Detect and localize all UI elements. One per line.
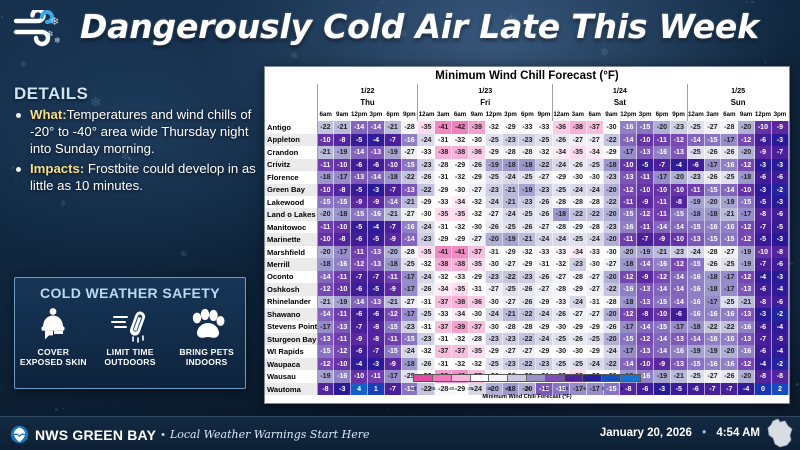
- table-cell-value: -34: [586, 146, 603, 158]
- table-cell-value: -21: [401, 196, 418, 208]
- table-cell-value: -19: [704, 345, 721, 357]
- table-cell-value: -30: [485, 258, 502, 270]
- table-cell-value: -21: [334, 121, 351, 133]
- table-cell-value: -38: [452, 258, 469, 270]
- table-cell-value: -18: [738, 171, 755, 183]
- snow-dot: [387, 408, 389, 410]
- cold-weather-safety-box: COLD WEATHER SAFETY COVEREXPOSED SKIN: [14, 277, 246, 389]
- table-cell-value: -12: [351, 258, 368, 270]
- table-cell-value: -32: [485, 121, 502, 133]
- table-cell-value: -26: [519, 283, 536, 295]
- table-row: Antigo-22-21-14-14-21-28-35-41-42-39-32-…: [265, 121, 789, 133]
- table-cell-value: -41: [435, 246, 452, 258]
- table-cell-value: -12: [738, 233, 755, 245]
- table-row-city: Oshkosh: [265, 283, 317, 295]
- table-cell-value: -28: [704, 246, 721, 258]
- table-cell-value: -18: [603, 159, 620, 171]
- table-cell-value: -15: [637, 121, 654, 133]
- table-header-hour: 3am: [435, 109, 452, 121]
- table-cell-value: -16: [704, 221, 721, 233]
- table-cell-value: -27: [502, 258, 519, 270]
- table-cell-value: -17: [401, 308, 418, 320]
- table-cell-value: -18: [704, 208, 721, 220]
- table-cell-value: -28: [502, 146, 519, 158]
- table-cell-value: -11: [317, 159, 334, 171]
- table-cell-value: -13: [317, 333, 334, 345]
- table-cell-value: -23: [569, 258, 586, 270]
- snow-dot: [0, 395, 1, 396]
- table-cell-value: -27: [485, 208, 502, 220]
- table-cell-value: -32: [468, 208, 485, 220]
- table-cell-value: -29: [586, 345, 603, 357]
- table-cell-value: -29: [452, 159, 469, 171]
- table-cell-value: -23: [519, 271, 536, 283]
- table-cell-value: -5: [637, 159, 654, 171]
- footer-timestamp: January 20, 2026 • 4:54 AM: [600, 427, 760, 439]
- table-cell-value: -15: [687, 221, 704, 233]
- table-cell-value: -8: [334, 233, 351, 245]
- table-cell-value: -29: [553, 171, 570, 183]
- table-cell-value: -35: [468, 258, 485, 270]
- table-cell-value: -12: [738, 134, 755, 146]
- table-cell-value: -16: [334, 258, 351, 270]
- table-cell-value: -16: [687, 283, 704, 295]
- table-cell-value: -26: [536, 208, 553, 220]
- table-cell-value: -7: [755, 221, 772, 233]
- table-cell-value: -14: [670, 271, 687, 283]
- table-cell-value: -14: [317, 271, 334, 283]
- legend-swatch: [602, 375, 621, 381]
- table-cell-value: -30: [485, 296, 502, 308]
- table-cell-value: -9: [771, 121, 788, 133]
- table-cell-value: -17: [704, 296, 721, 308]
- table-cell-value: -17: [670, 321, 687, 333]
- table-cell-value: -18: [704, 283, 721, 295]
- table-cell-value: -16: [738, 345, 755, 357]
- table-cell-value: -31: [468, 283, 485, 295]
- table-cell-value: -26: [704, 171, 721, 183]
- table-cell-value: -13: [367, 258, 384, 270]
- table-cell-value: -12: [670, 258, 687, 270]
- table-cell-value: -26: [704, 146, 721, 158]
- table-cell-value: -39: [468, 121, 485, 133]
- table-header-hour: 3pm: [637, 109, 654, 121]
- table-cell-value: -20: [603, 271, 620, 283]
- legend-swatch: [508, 375, 527, 381]
- table-cell-value: -30: [553, 321, 570, 333]
- table-cell-value: -9: [351, 333, 368, 345]
- table-cell-value: -15: [384, 321, 401, 333]
- table-cell-value: -28: [586, 196, 603, 208]
- table-cell-value: -24: [586, 233, 603, 245]
- table-cell-value: -11: [654, 208, 671, 220]
- table-header-hour: 9am: [603, 109, 620, 121]
- table-cell-value: -20: [721, 345, 738, 357]
- table-cell-value: -29: [569, 321, 586, 333]
- legend-tick: -30: [486, 386, 493, 391]
- svg-text:❄: ❄: [54, 36, 61, 45]
- page-title: Dangerously Cold Air Late This Week: [80, 7, 759, 46]
- table-cell-value: -20: [670, 171, 687, 183]
- legend-swatch: [433, 375, 452, 381]
- table-cell-value: -15: [351, 208, 368, 220]
- table-cell-value: -15: [401, 333, 418, 345]
- table-cell-value: -24: [687, 246, 704, 258]
- table-cell-value: -23: [418, 159, 435, 171]
- table-cell-value: -7: [654, 159, 671, 171]
- table-cell-value: -34: [452, 196, 469, 208]
- table-header-hour: 3pm: [771, 109, 788, 121]
- table-cell-value: -7: [771, 146, 788, 158]
- legend-tick: -10: [562, 386, 569, 391]
- table-row: Sturgeon Bay-13-11-9-8-11-15-23-31-32-28…: [265, 333, 789, 345]
- table-row-city: Marshfield: [265, 246, 317, 258]
- table-cell-value: -15: [704, 134, 721, 146]
- table-cell-value: -7: [384, 134, 401, 146]
- table-header-hours: 6am9am12pm3pm6pm9pm12am3am6am9am12pm3pm6…: [265, 109, 789, 121]
- table-cell-value: -16: [687, 296, 704, 308]
- table-header-hour: 9pm: [401, 109, 418, 121]
- table-cell-value: -3: [367, 184, 384, 196]
- table-cell-value: -9: [755, 146, 772, 158]
- table-header-day: Thu: [317, 96, 418, 108]
- table-cell-value: -24: [418, 221, 435, 233]
- table-cell-value: -4: [755, 271, 772, 283]
- table-cell-value: -16: [704, 333, 721, 345]
- table-cell-value: -19: [519, 184, 536, 196]
- table-cell-value: -28: [553, 283, 570, 295]
- table-cell-value: -30: [485, 321, 502, 333]
- table-cell-value: -10: [654, 308, 671, 320]
- table-header-hour: 3am: [569, 109, 586, 121]
- table-cell-value: -29: [468, 171, 485, 183]
- table-cell-value: -20: [738, 146, 755, 158]
- table-cell-value: -3: [771, 134, 788, 146]
- table-cell-value: -23: [502, 134, 519, 146]
- table-cell-value: -24: [536, 308, 553, 320]
- list-item: Impacts: Frostbite could develop in as l…: [14, 161, 258, 195]
- table-cell-value: -5: [771, 221, 788, 233]
- table-cell-value: -29: [536, 345, 553, 357]
- table-cell-value: -19: [485, 159, 502, 171]
- wisconsin-outline-icon: [766, 418, 794, 448]
- table-cell-value: -28: [569, 271, 586, 283]
- table-cell-value: -24: [569, 296, 586, 308]
- table-cell-value: -24: [586, 184, 603, 196]
- table-cell-value: -4: [367, 221, 384, 233]
- table-cell-value: -7: [755, 258, 772, 270]
- legend-swatch: [452, 375, 471, 381]
- table-cell-value: -13: [367, 146, 384, 158]
- table-corner-cell: [265, 109, 317, 121]
- table-cell-value: -17: [620, 146, 637, 158]
- table-cell-value: -15: [317, 345, 334, 357]
- table-cell-value: -24: [536, 333, 553, 345]
- table-cell-value: -17: [620, 321, 637, 333]
- table-cell-value: -13: [637, 283, 654, 295]
- table-cell-value: -15: [620, 208, 637, 220]
- safety-item-cover-skin: COVEREXPOSED SKIN: [15, 305, 92, 368]
- safety-label: BRING PETSINDOORS: [168, 347, 245, 368]
- table-cell-value: -27: [586, 134, 603, 146]
- table-cell-value: -30: [468, 308, 485, 320]
- wind-chill-table: 1/221/231/241/25 ThuFriSatSun 6am9am12pm…: [265, 84, 789, 395]
- table-header-hour: 9am: [738, 109, 755, 121]
- table-cell-value: -10: [384, 159, 401, 171]
- table-cell-value: -6: [367, 308, 384, 320]
- table-cell-value: -32: [452, 333, 469, 345]
- table-cell-value: -27: [536, 171, 553, 183]
- table-cell-value: -9: [654, 233, 671, 245]
- table-cell-value: -12: [620, 271, 637, 283]
- table-cell-value: -6: [351, 159, 368, 171]
- table-cell-value: -22: [502, 271, 519, 283]
- table-cell-value: -6: [351, 308, 368, 320]
- table-cell-value: -29: [418, 196, 435, 208]
- table-header-hour: 6pm: [654, 109, 671, 121]
- table-cell-value: -6: [755, 134, 772, 146]
- table-cell-value: -10: [738, 184, 755, 196]
- table-cell-value: -25: [401, 258, 418, 270]
- table-cell-value: -27: [603, 258, 620, 270]
- table-cell-value: -22: [721, 321, 738, 333]
- table-cell-value: -4: [670, 159, 687, 171]
- table-cell-value: -23: [485, 333, 502, 345]
- table-cell-value: -26: [519, 296, 536, 308]
- table-cell-value: -16: [620, 121, 637, 133]
- table-header-hour: 12pm: [755, 109, 772, 121]
- table-cell-value: -27: [502, 296, 519, 308]
- table-cell-value: -25: [536, 134, 553, 146]
- table-cell-value: -37: [435, 345, 452, 357]
- table-cell-value: -25: [502, 283, 519, 295]
- table-cell-value: -3: [771, 196, 788, 208]
- table-cell-value: -4: [771, 283, 788, 295]
- table-cell-value: -3: [755, 308, 772, 320]
- table-cell-value: -29: [569, 221, 586, 233]
- table-title: Minimum Wind Chill Forecast (°F): [265, 67, 789, 84]
- table-cell-value: -10: [637, 134, 654, 146]
- table-header-date: 1/22: [317, 84, 418, 96]
- legend-tick: -50: [410, 386, 417, 391]
- table-row: Green Bay-10-8-5-3-7-13-22-29-30-27-23-2…: [265, 184, 789, 196]
- legend-tick: -5: [582, 386, 586, 391]
- table-cell-value: -16: [654, 258, 671, 270]
- table-cell-value: -18: [687, 208, 704, 220]
- table-cell-value: -15: [384, 345, 401, 357]
- table-cell-value: -22: [569, 208, 586, 220]
- table-cell-value: -10: [317, 184, 334, 196]
- table-cell-value: -23: [502, 333, 519, 345]
- table-cell-value: -29: [569, 283, 586, 295]
- snow-dot: [13, 235, 14, 236]
- table-cell-value: -11: [334, 308, 351, 320]
- table-cell-value: -24: [485, 196, 502, 208]
- table-cell-value: -11: [637, 221, 654, 233]
- table-cell-value: -32: [553, 258, 570, 270]
- table-corner-cell: [265, 84, 317, 96]
- table-cell-value: -33: [553, 296, 570, 308]
- table-cell-value: -30: [586, 171, 603, 183]
- table-cell-value: -13: [367, 246, 384, 258]
- table-cell-value: -13: [637, 296, 654, 308]
- table-cell-value: -27: [519, 345, 536, 357]
- table-cell-value: -11: [687, 184, 704, 196]
- table-cell-value: -31: [435, 333, 452, 345]
- table-cell-value: -18: [553, 208, 570, 220]
- table-cell-value: -24: [603, 345, 620, 357]
- table-cell-value: -14: [620, 134, 637, 146]
- table-cell-value: -27: [553, 271, 570, 283]
- table-header-date: 1/25: [687, 84, 788, 96]
- table-cell-value: -10: [317, 134, 334, 146]
- table-cell-value: -34: [569, 246, 586, 258]
- table-cell-value: -32: [468, 196, 485, 208]
- legend-swatch: [583, 375, 602, 381]
- table-cell-value: -17: [334, 171, 351, 183]
- table-cell-value: -13: [637, 345, 654, 357]
- table-cell-value: -9: [367, 196, 384, 208]
- legend-swatch: [489, 375, 508, 381]
- legend-tick: -25: [505, 386, 512, 391]
- footer-time: 4:54 AM: [716, 427, 760, 439]
- table-cell-value: -19: [687, 196, 704, 208]
- table-cell-value: -5: [351, 184, 368, 196]
- table-cell-value: -18: [334, 208, 351, 220]
- legend-tick: 0: [602, 386, 605, 391]
- safety-item-limit-time: LIMIT TIMEOUTDOORS: [92, 305, 169, 368]
- table-cell-value: -25: [553, 333, 570, 345]
- table-cell-value: -23: [519, 134, 536, 146]
- office-name: NWS GREEN BAY: [35, 427, 156, 443]
- table-cell-value: -27: [721, 246, 738, 258]
- table-cell-value: -6: [771, 296, 788, 308]
- table-cell-value: -6: [771, 208, 788, 220]
- table-cell-value: -32: [452, 134, 469, 146]
- table-cell-value: -20: [603, 233, 620, 245]
- table-body: Antigo-22-21-14-14-21-28-35-41-42-39-32-…: [265, 121, 789, 395]
- table-cell-value: -27: [536, 283, 553, 295]
- table-cell-value: -17: [401, 271, 418, 283]
- table-cell-value: -26: [553, 308, 570, 320]
- table-cell-value: -12: [670, 134, 687, 146]
- table-cell-value: -15: [670, 208, 687, 220]
- table-cell-value: -10: [755, 246, 772, 258]
- table-cell-value: -11: [384, 271, 401, 283]
- table-cell-value: -23: [536, 184, 553, 196]
- footer-dot: •: [702, 427, 706, 439]
- table-cell-value: -33: [452, 271, 469, 283]
- table-cell-value: -26: [721, 146, 738, 158]
- table-cell-value: -18: [519, 159, 536, 171]
- legend-swatch: [414, 375, 433, 381]
- table-cell-value: -6: [771, 171, 788, 183]
- table-cell-value: -27: [485, 283, 502, 295]
- legend-tick: -45: [429, 386, 436, 391]
- table-header-dates: 1/221/231/241/25: [265, 84, 789, 96]
- table-cell-value: -18: [384, 258, 401, 270]
- table-cell-value: -29: [468, 271, 485, 283]
- table-cell-value: -3: [771, 271, 788, 283]
- table-cell-value: -30: [468, 221, 485, 233]
- table-cell-value: -14: [637, 321, 654, 333]
- table-cell-value: -23: [670, 121, 687, 133]
- table-cell-value: -18: [620, 258, 637, 270]
- table-cell-value: -10: [670, 233, 687, 245]
- table-cell-value: -27: [401, 208, 418, 220]
- table-cell-value: -16: [704, 308, 721, 320]
- table-row: Appleton-10-8-5-4-7-16-24-31-32-30-25-23…: [265, 134, 789, 146]
- table-cell-value: -14: [401, 233, 418, 245]
- table-cell-value: -9: [384, 283, 401, 295]
- header: ❄ ❄ ❄ Dangerously Cold Air Late This Wee…: [0, 0, 800, 62]
- table-cell-value: -34: [435, 283, 452, 295]
- table-cell-value: -20: [485, 233, 502, 245]
- table-cell-value: -22: [317, 121, 334, 133]
- table-cell-value: -33: [435, 308, 452, 320]
- table-cell-value: -42: [452, 121, 469, 133]
- table-cell-value: -31: [435, 134, 452, 146]
- table-cell-value: -38: [435, 258, 452, 270]
- table-cell-value: -33: [586, 246, 603, 258]
- table-cell-value: -8: [670, 196, 687, 208]
- table-cell-value: -13: [670, 146, 687, 158]
- table-cell-value: -17: [334, 246, 351, 258]
- table-cell-value: -11: [384, 333, 401, 345]
- table-row-city: WI Rapids: [265, 345, 317, 357]
- bullet-lead: Impacts:: [30, 161, 84, 176]
- table-cell-value: -26: [553, 134, 570, 146]
- table-cell-value: -23: [401, 321, 418, 333]
- table-cell-value: -27: [468, 233, 485, 245]
- table-cell-value: -37: [452, 345, 469, 357]
- table-cell-value: -22: [401, 171, 418, 183]
- table-cell-value: -10: [334, 283, 351, 295]
- table-cell-value: -8: [771, 246, 788, 258]
- table-cell-value: -24: [536, 233, 553, 245]
- table-cell-value: -11: [334, 271, 351, 283]
- table-cell-value: -7: [384, 184, 401, 196]
- table-cell-value: -35: [418, 246, 435, 258]
- table-cell-value: -20: [654, 121, 671, 133]
- table-cell-value: -23: [687, 171, 704, 183]
- table-cell-value: -19: [721, 196, 738, 208]
- safety-label: COVEREXPOSED SKIN: [15, 347, 92, 368]
- table-cell-value: -10: [334, 159, 351, 171]
- table-cell-value: -28: [553, 221, 570, 233]
- legend-caption: Minimum Wind Chill Forecast (°F): [265, 394, 789, 400]
- legend-tick: -15: [543, 386, 550, 391]
- table-cell-value: -11: [351, 246, 368, 258]
- table-cell-value: -30: [603, 246, 620, 258]
- table-cell-value: -29: [603, 146, 620, 158]
- table-cell-value: -28: [435, 159, 452, 171]
- table-cell-value: -14: [687, 333, 704, 345]
- table-cell-value: -16: [721, 308, 738, 320]
- table-cell-value: -24: [553, 233, 570, 245]
- table-cell-value: -24: [418, 271, 435, 283]
- table-cell-value: -14: [654, 333, 671, 345]
- table-cell-value: -21: [721, 208, 738, 220]
- wind-snowflake-icon: ❄ ❄ ❄: [12, 10, 68, 52]
- table-row: Oshkosh-12-10-6-5-9-17-26-34-35-31-27-25…: [265, 283, 789, 295]
- table-cell-value: -28: [502, 321, 519, 333]
- winter-hat-scarf-icon: [15, 305, 92, 345]
- table-row: Merrill-18-16-12-13-18-25-32-38-38-35-30…: [265, 258, 789, 270]
- table-cell-value: -30: [553, 345, 570, 357]
- table-cell-value: -15: [620, 333, 637, 345]
- table-header-hour: 12pm: [620, 109, 637, 121]
